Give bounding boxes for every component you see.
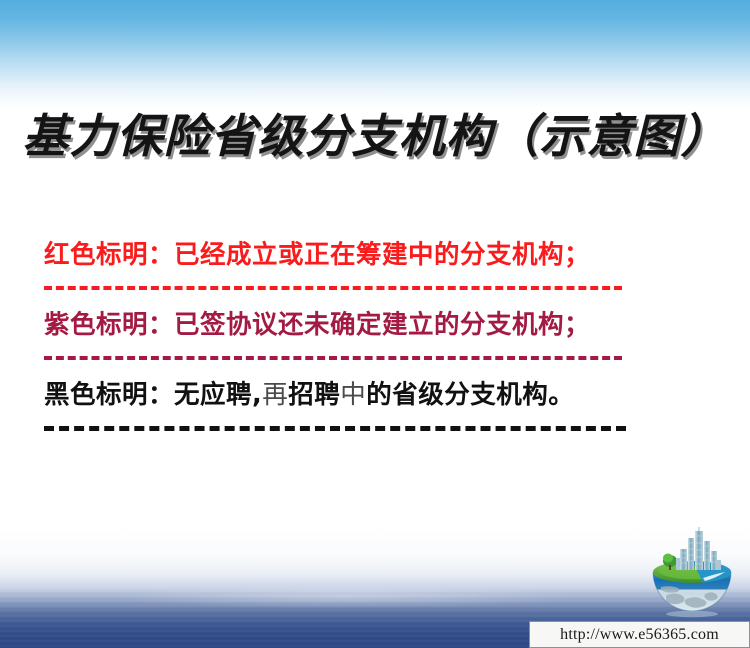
legend-black-prefix: 黑色标明： [44,380,174,410]
city-buildings-icon [676,527,721,570]
slide-canvas: 基力保险省级分支机构（示意图） 红色标明：已经成立或正在筹建中的分支机构； 紫色… [0,0,750,648]
watermark-url-box: http://www.e56365.com [529,621,750,648]
legend-black-thin1: 再 [262,380,288,410]
legend-label-black: 黑色标明：无应聘,再招聘中的省级分支机构。 [44,378,664,412]
watermark-url-text: http://www.e56365.com [560,626,719,644]
legend-item-black: 黑色标明：无应聘,再招聘中的省级分支机构。 [44,378,664,431]
sky-gradient-background [0,0,750,110]
legend-divider-red [44,286,622,290]
legend-block: 红色标明：已经成立或正在筹建中的分支机构； 紫色标明：已签协议还未确定建立的分支… [44,238,664,449]
legend-divider-purple [44,356,622,360]
legend-black-part2: 招聘 [288,380,340,410]
globe-city-logo [645,527,739,619]
legend-item-red: 红色标明：已经成立或正在筹建中的分支机构； [44,238,664,290]
legend-divider-black [44,426,626,431]
legend-black-part3: 的省级分支机构。 [366,380,574,410]
legend-black-part1: 无应聘, [174,380,262,410]
slide-title: 基力保险省级分支机构（示意图） [0,100,750,166]
legend-item-purple: 紫色标明：已签协议还未确定建立的分支机构； [44,308,664,360]
legend-label-red: 红色标明：已经成立或正在筹建中的分支机构； [44,238,664,272]
legend-label-purple: 紫色标明：已签协议还未确定建立的分支机构； [44,308,664,342]
legend-black-thin2: 中 [340,380,366,410]
